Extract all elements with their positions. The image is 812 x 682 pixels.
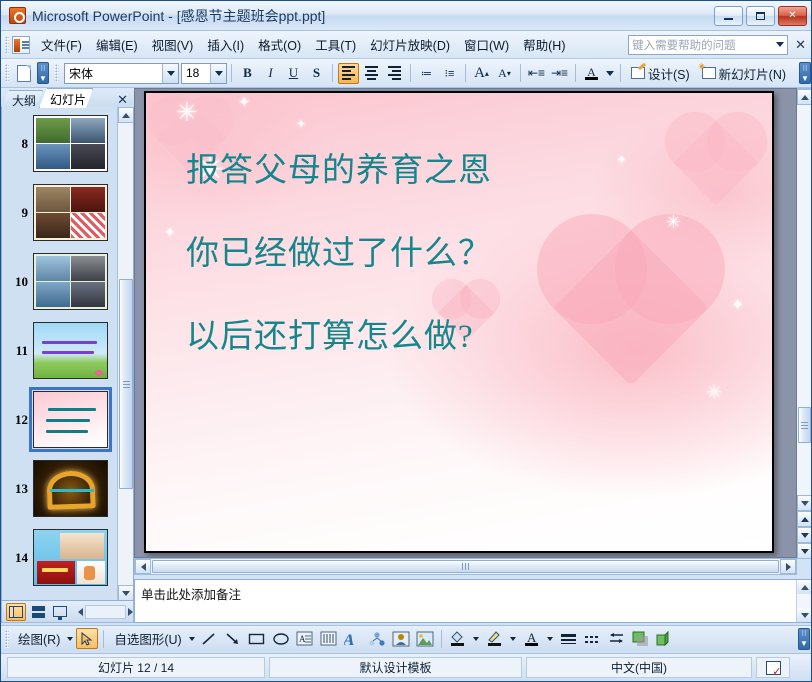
svg-text:A: A <box>299 634 306 644</box>
slide-number: 14 <box>6 550 28 566</box>
decrease-font-size-icon[interactable]: A▾ <box>494 63 515 84</box>
menu-item-insert[interactable]: 插入(I) <box>200 31 251 58</box>
notes-scroll-up-button[interactable] <box>797 580 812 594</box>
autoshapes-menu-button[interactable]: 自选图形(U) <box>109 628 195 649</box>
autoshapes-label: 自选图形(U) <box>110 629 185 648</box>
decrease-indent-icon[interactable]: ⇤≡ <box>526 63 547 84</box>
slide-number: 9 <box>6 205 28 221</box>
slide-line-1: 报答父母的养育之恩 <box>186 155 726 188</box>
slide-number: 13 <box>6 481 28 497</box>
thumbnail-scrollbar-thumb[interactable] <box>119 279 133 489</box>
slide-line-2: 你已经做过了什么？ <box>186 238 726 271</box>
panel-close-icon[interactable]: ✕ <box>117 92 128 108</box>
slide-preview[interactable] <box>33 322 108 379</box>
toolbar-separator-2 <box>332 64 333 82</box>
slide-horizontal-scrollbar[interactable] <box>134 558 797 575</box>
drawbar-grip[interactable] <box>5 630 9 648</box>
draw-menu-button[interactable]: 绘图(R) <box>13 628 74 649</box>
slide-text-placeholder[interactable]: 报答父母的养育之恩 你已经做过了什么？ 以后还打算怎么做? <box>186 155 726 354</box>
sparkle-icon: ✦ <box>164 225 176 239</box>
toolbar-separator-5 <box>520 64 521 82</box>
minimize-button[interactable] <box>714 6 743 26</box>
oval-icon[interactable] <box>270 628 292 649</box>
design-icon <box>631 67 645 79</box>
notes-pane[interactable]: 单击此处添加备注 <box>134 579 812 623</box>
powerpoint-icon <box>9 7 26 24</box>
slide-thumbnail-panel: 8 9 <box>1 107 134 601</box>
increase-indent-icon[interactable]: ⇥≡ <box>549 63 570 84</box>
drawbar-separator-2 <box>441 630 442 648</box>
fill-color-chevron-down-icon[interactable] <box>471 628 482 649</box>
picture-icon[interactable] <box>414 628 436 649</box>
thumbnail-scroll-up-button[interactable] <box>118 107 134 123</box>
underline-button[interactable]: U <box>283 63 304 84</box>
help-search-placeholder: 键入需要帮助的问题 <box>632 37 736 53</box>
menu-item-file[interactable]: 文件(F) <box>34 31 89 58</box>
slide-number: 8 <box>6 136 28 152</box>
new-slide-button[interactable]: 新幻灯片(N) <box>696 62 792 84</box>
slide-count-status: 幻灯片 12 / 14 <box>7 657 265 678</box>
menu-item-edit[interactable]: 编辑(E) <box>89 31 145 58</box>
slide-sorter-view-button[interactable] <box>28 603 48 621</box>
title-bar: Microsoft PowerPoint - [感恩节主题班会ppt.ppt] … <box>1 1 812 31</box>
numbered-list-icon[interactable]: ≔ <box>416 63 437 84</box>
document-icon <box>12 36 30 54</box>
slide-preview[interactable] <box>33 391 108 448</box>
drawbar-separator-1 <box>103 630 104 648</box>
slide-number: 10 <box>6 274 28 290</box>
menu-item-help[interactable]: 帮助(H) <box>516 31 572 58</box>
slide-thumbnail-11[interactable]: 11 <box>2 316 119 385</box>
slide-scroll-up-button[interactable] <box>797 89 812 105</box>
design-label: 设计(S) <box>648 64 690 83</box>
sparkle-icon: ✳ <box>706 383 723 403</box>
slide-preview[interactable] <box>33 253 108 310</box>
formatting-toolbar: ⁝⁝▼ 宋体 18 B I U S ≔ ⁝≡ A▴ A▾ ⇤≡ ⇥ <box>1 59 812 88</box>
spellcheck-icon <box>766 661 781 675</box>
thumbnail-scrollbar[interactable] <box>117 107 133 601</box>
font-color-letter: A <box>587 67 596 77</box>
diagram-icon[interactable] <box>366 628 388 649</box>
drawbar-font-color-icon[interactable]: A <box>521 628 543 649</box>
toolbar-grip-2[interactable] <box>55 64 59 82</box>
tab-outline[interactable]: 大纲 <box>1 90 43 108</box>
drawbar-options-button[interactable]: ⁝⁝▼ <box>798 628 810 650</box>
font-name-combo[interactable]: 宋体 <box>64 63 179 84</box>
panel-scroll-right-icon[interactable] <box>128 608 133 616</box>
notes-placeholder: 单击此处添加备注 <box>141 588 241 602</box>
panel-horizontal-scrollbar[interactable] <box>78 605 133 619</box>
menu-item-slideshow[interactable]: 幻灯片放映(D) <box>363 31 457 58</box>
slide-hscrollbar-thumb[interactable] <box>152 560 779 573</box>
clip-art-icon[interactable] <box>390 628 412 649</box>
chevron-down-icon[interactable] <box>776 42 784 47</box>
powerpoint-window: Microsoft PowerPoint - [感恩节主题班会ppt.ppt] … <box>0 0 812 682</box>
vertical-text-icon[interactable] <box>318 628 340 649</box>
menu-bar: 文件(F) 编辑(E) 视图(V) 插入(I) 格式(O) 工具(T) 幻灯片放… <box>1 31 812 59</box>
align-center-icon[interactable] <box>361 63 382 84</box>
text-shadow-button[interactable]: S <box>306 63 327 84</box>
notes-scroll-down-button[interactable] <box>797 608 812 622</box>
menu-item-window[interactable]: 窗口(W) <box>457 31 516 58</box>
bold-button[interactable]: B <box>237 63 258 84</box>
toolbar-grip-1[interactable] <box>5 64 9 82</box>
help-search-input[interactable]: 键入需要帮助的问题 <box>628 35 788 55</box>
new-document-icon[interactable] <box>13 63 34 84</box>
font-size-chevron-down-icon[interactable] <box>210 64 226 83</box>
view-buttons-bar <box>1 601 134 623</box>
line-color-icon[interactable] <box>484 628 506 649</box>
arrow-icon[interactable] <box>222 628 244 649</box>
normal-view-button[interactable] <box>6 603 26 621</box>
slide-preview[interactable] <box>33 460 108 517</box>
window-controls: ✕ <box>714 6 807 26</box>
menu-grip[interactable] <box>5 36 9 54</box>
font-size-combo[interactable]: 18 <box>181 63 227 84</box>
text-box-icon[interactable]: A <box>294 628 316 649</box>
close-button[interactable]: ✕ <box>778 6 807 26</box>
sparkle-icon: ✦ <box>238 95 251 110</box>
toolbar-options-button-2[interactable]: ⁝⁝▼ <box>799 62 811 84</box>
draw-chevron-down-icon <box>67 637 73 641</box>
toolbar-separator-7 <box>620 64 621 82</box>
toolbar-separator-3 <box>410 64 411 82</box>
drawbar-font-color-chevron-down-icon[interactable] <box>545 628 556 649</box>
slide-thumbnail-12[interactable]: 12 <box>2 385 119 454</box>
menu-item-format[interactable]: 格式(O) <box>251 31 308 58</box>
slide-scrollbar-thumb[interactable] <box>798 407 811 443</box>
slide-scroll-down-button[interactable] <box>797 495 812 511</box>
thumbnail-scroll-down-button[interactable] <box>118 585 134 601</box>
slide-show-from-current-button[interactable] <box>797 543 812 559</box>
slide-number: 11 <box>6 343 28 359</box>
bulleted-list-icon[interactable]: ⁝≡ <box>439 63 460 84</box>
slide-show-view-button[interactable] <box>50 603 70 621</box>
status-bar: 幻灯片 12 / 14 默认设计模板 中文(中国) <box>1 653 812 681</box>
slide-thumbnail-9[interactable]: 9 <box>2 178 119 247</box>
design-button[interactable]: 设计(S) <box>625 62 696 84</box>
slide-thumbnail-8[interactable]: 8 <box>2 109 119 178</box>
line-style-icon[interactable] <box>558 628 580 649</box>
font-name-value: 宋体 <box>69 65 93 82</box>
previous-slide-button[interactable] <box>797 511 812 527</box>
drawbar-font-color-letter: A <box>527 632 536 643</box>
italic-button[interactable]: I <box>260 63 281 84</box>
slide-canvas[interactable]: ✳ ✦ ✳ ✦ ✳ ✦ ✳ ✦ ✦ 报答父母的养育之恩 你已经做过了什么？ 以后… <box>146 93 772 551</box>
slide-thumbnail-13[interactable]: 13 <box>2 454 119 523</box>
align-right-icon[interactable] <box>384 63 405 84</box>
slide-vertical-scrollbar[interactable] <box>797 88 812 558</box>
align-left-icon[interactable] <box>338 63 359 84</box>
menu-item-view[interactable]: 视图(V) <box>145 31 201 58</box>
sparkle-icon: ✦ <box>296 118 306 130</box>
arrow-style-icon[interactable] <box>606 628 628 649</box>
line-icon[interactable] <box>198 628 220 649</box>
help-area: 键入需要帮助的问题 ✕ <box>628 35 809 55</box>
menubar-close-icon[interactable]: ✕ <box>792 37 809 53</box>
font-size-value: 18 <box>186 66 199 80</box>
language-status: 中文(中国) <box>526 657 752 678</box>
slide-editor-stage: ✳ ✦ ✳ ✦ ✳ ✦ ✳ ✦ ✦ 报答父母的养育之恩 你已经做过了什么？ 以后… <box>134 88 797 558</box>
panel-scroll-left-icon[interactable] <box>78 608 83 616</box>
shadow-style-icon[interactable] <box>630 628 652 649</box>
menu-item-tools[interactable]: 工具(T) <box>308 31 363 58</box>
font-color-icon[interactable]: A <box>581 63 602 84</box>
design-template-status: 默认设计模板 <box>269 657 522 678</box>
word-art-icon[interactable]: A <box>342 628 364 649</box>
tab-slides[interactable]: 幻灯片 <box>39 88 93 108</box>
draw-menu-label: 绘图(R) <box>14 629 64 648</box>
rectangle-icon[interactable] <box>246 628 268 649</box>
notes-scrollbar[interactable] <box>796 580 811 622</box>
sparkle-icon: ✳ <box>176 99 198 125</box>
slide-preview[interactable] <box>33 115 108 172</box>
sparkle-icon: ✦ <box>731 298 744 314</box>
slide-line-3: 以后还打算怎么做? <box>186 321 726 354</box>
dash-style-icon[interactable] <box>582 628 604 649</box>
panel-hscroll-track[interactable] <box>85 605 126 619</box>
select-arrow-icon[interactable] <box>76 628 98 649</box>
slide-thumbnail-list[interactable]: 8 9 <box>2 107 119 601</box>
slide-preview[interactable] <box>33 529 108 586</box>
next-slide-button[interactable] <box>797 527 812 543</box>
slide-thumbnail-14[interactable]: 14 <box>2 523 119 592</box>
font-color-chevron-down-icon[interactable] <box>604 63 615 84</box>
3d-style-icon[interactable] <box>654 628 676 649</box>
spellcheck-status[interactable] <box>756 657 790 678</box>
new-slide-icon <box>702 67 716 79</box>
toolbar-separator-1 <box>231 64 232 82</box>
toolbar-separator-4 <box>465 64 466 82</box>
drawing-toolbar: 绘图(R) 自选图形(U) A A <box>1 625 812 651</box>
toolbar-options-button-1[interactable]: ⁝⁝▼ <box>37 62 49 84</box>
outline-slides-tabs: 大纲 幻灯片 ✕ <box>1 88 134 108</box>
slide-scroll-right-button[interactable] <box>780 559 796 574</box>
slide-scroll-left-button[interactable] <box>135 559 151 574</box>
slide-thumbnail-10[interactable]: 10 <box>2 247 119 316</box>
restore-button[interactable] <box>746 6 775 26</box>
window-title: Microsoft PowerPoint - [感恩节主题班会ppt.ppt] <box>32 6 714 26</box>
fill-color-icon[interactable] <box>447 628 469 649</box>
new-slide-label: 新幻灯片(N) <box>719 64 786 83</box>
toolbar-separator-6 <box>575 64 576 82</box>
font-name-chevron-down-icon[interactable] <box>162 64 178 83</box>
current-slide[interactable]: ✳ ✦ ✳ ✦ ✳ ✦ ✳ ✦ ✦ 报答父母的养育之恩 你已经做过了什么？ 以后… <box>144 91 774 553</box>
increase-font-size-icon[interactable]: A▴ <box>471 63 492 84</box>
autoshapes-chevron-down-icon <box>189 637 195 641</box>
line-color-chevron-down-icon[interactable] <box>508 628 519 649</box>
slide-preview[interactable] <box>33 184 108 241</box>
svg-text:A: A <box>344 632 357 647</box>
slide-number: 12 <box>6 412 28 428</box>
